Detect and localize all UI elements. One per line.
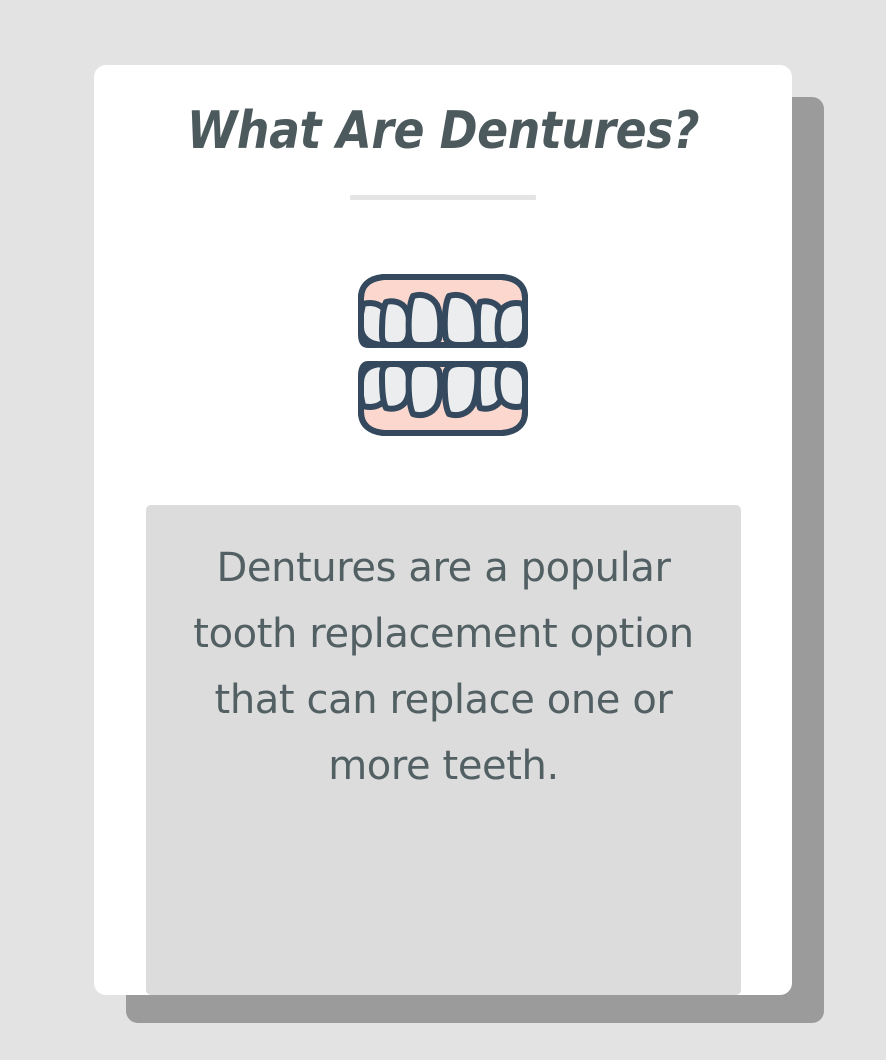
dentures-icon: [356, 272, 530, 438]
title-divider: [350, 195, 536, 200]
slide-canvas: What Are Dentures?: [0, 0, 886, 1060]
description-panel: Dentures are a popular tooth replacement…: [146, 505, 741, 995]
content-card: What Are Dentures?: [94, 65, 792, 995]
description-text: Dentures are a popular tooth replacement…: [146, 535, 741, 799]
page-title: What Are Dentures?: [136, 103, 750, 160]
